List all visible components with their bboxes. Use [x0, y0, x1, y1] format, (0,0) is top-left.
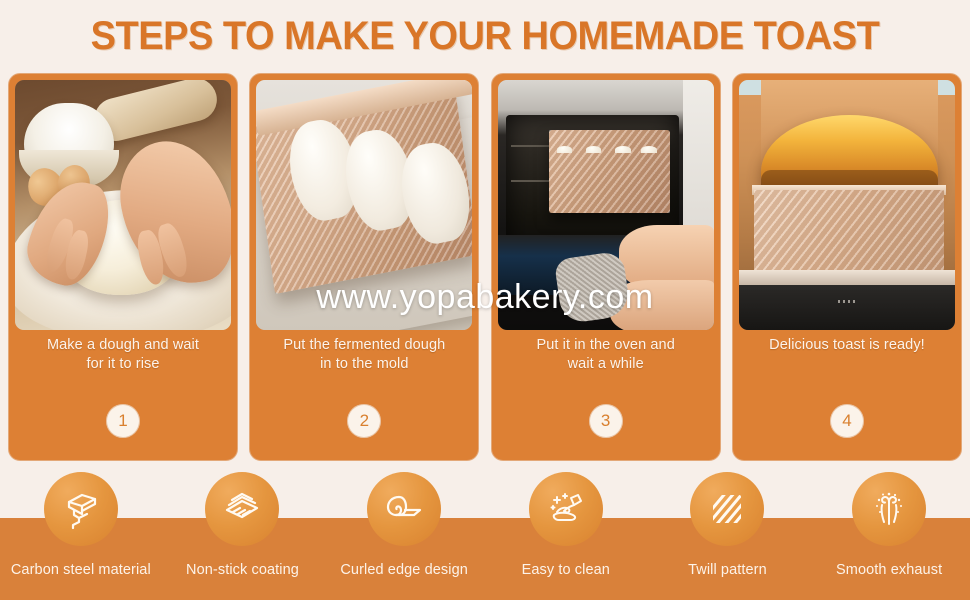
step-number-badge-3: 3: [589, 404, 623, 438]
step-card-4[interactable]: Delicious toast is ready! 4: [732, 73, 962, 461]
steps-row: Make a dough and wait for it to rise 1 P…: [8, 73, 962, 463]
step-caption-line2: wait a while: [498, 355, 714, 374]
step-number-badge-4: 4: [830, 404, 864, 438]
step-caption-line1: Put the fermented dough: [256, 336, 472, 355]
curled-edge-icon: [367, 472, 441, 546]
step-caption-line1: Make a dough and wait: [15, 336, 231, 355]
feature-label: Smooth exhaust: [836, 562, 942, 578]
step-caption-line2: for it to rise: [15, 355, 231, 374]
coating-layers-icon: [205, 472, 279, 546]
feature-curled-edge-design[interactable]: Curled edge design: [329, 472, 479, 578]
feature-carbon-steel-material[interactable]: Carbon steel material: [6, 472, 156, 578]
feature-easy-to-clean[interactable]: Easy to clean: [491, 472, 641, 578]
step-caption-line1: Put it in the oven and: [498, 336, 714, 355]
step-caption-line1: Delicious toast is ready!: [739, 336, 955, 355]
twill-hatch-icon: [690, 472, 764, 546]
page-title: STEPS TO MAKE YOUR HOMEMADE TOAST: [24, 14, 946, 59]
step-number-badge-2: 2: [347, 404, 381, 438]
step-card-1[interactable]: Make a dough and wait for it to rise 1: [8, 73, 238, 461]
feature-label: Curled edge design: [340, 562, 468, 578]
feature-label: Easy to clean: [522, 562, 610, 578]
feature-twill-pattern[interactable]: Twill pattern: [652, 472, 802, 578]
feature-label: Carbon steel material: [11, 562, 151, 578]
step-caption-4: Delicious toast is ready!: [739, 336, 955, 355]
step-caption-2: Put the fermented dough in to the mold: [256, 336, 472, 374]
step-photo-3: [498, 80, 714, 330]
step-caption-line2: in to the mold: [256, 355, 472, 374]
feature-non-stick-coating[interactable]: Non-stick coating: [167, 472, 317, 578]
feature-smooth-exhaust[interactable]: Smooth exhaust: [814, 472, 964, 578]
steam-exhaust-icon: [852, 472, 926, 546]
step-caption-1: Make a dough and wait for it to rise: [15, 336, 231, 374]
step-card-3[interactable]: Put it in the oven and wait a while 3: [491, 73, 721, 461]
step-card-2[interactable]: Put the fermented dough in to the mold 2: [249, 73, 479, 461]
feature-label: Twill pattern: [688, 562, 767, 578]
step-number-badge-1: 1: [106, 404, 140, 438]
step-photo-4: [739, 80, 955, 330]
feature-label: Non-stick coating: [186, 562, 299, 578]
infographic-page: STEPS TO MAKE YOUR HOMEMADE TOAST: [0, 0, 970, 600]
cleaning-hand-icon: [529, 472, 603, 546]
step-caption-3: Put it in the oven and wait a while: [498, 336, 714, 374]
steel-beam-icon: [44, 472, 118, 546]
step-photo-1: [15, 80, 231, 330]
features-row: Carbon steel material Non-stick coating: [0, 472, 970, 600]
step-photo-2: [256, 80, 472, 330]
